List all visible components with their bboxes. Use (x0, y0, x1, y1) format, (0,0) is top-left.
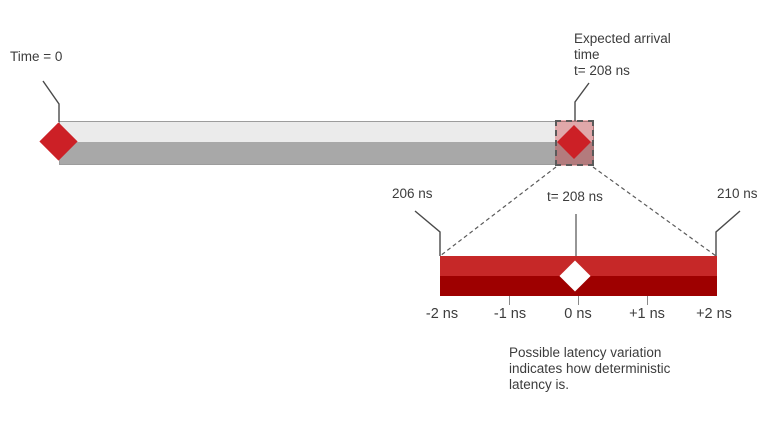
axis-tick-label-0: -2 ns (426, 306, 458, 322)
start-time-label: Time = 0 (10, 49, 62, 65)
expected-arrival-time-value: t= 208 ns (574, 63, 630, 79)
timeline-bar-lower-band (60, 142, 593, 164)
axis-tick-label-3: +1 ns (629, 306, 665, 322)
axis-tick-minus1 (509, 296, 510, 305)
expected-arrival-label-line2: time (574, 47, 600, 63)
axis-tick-plus1 (647, 296, 648, 305)
axis-tick-label-1: -1 ns (494, 306, 526, 322)
caption-line-1: Possible latency variation (509, 345, 661, 362)
zoom-fan-connectors (440, 167, 716, 256)
arrival-leader-line (575, 83, 589, 121)
latency-variation-diagram: Time = 0 Expected arrival time t= 208 ns… (0, 0, 761, 425)
axis-tick-zero (578, 296, 579, 305)
window-center-label: t= 208 ns (547, 189, 603, 205)
caption-line-2: indicates how deterministic (509, 361, 670, 378)
caption-line-3: latency is. (509, 377, 569, 394)
axis-tick-label-4: +2 ns (696, 306, 732, 322)
window-start-leader-line (415, 211, 440, 256)
timeline-bar-upper-band (60, 122, 593, 142)
timeline-bar (59, 121, 594, 165)
start-leader-line (43, 81, 59, 122)
expected-arrival-label-line1: Expected arrival (574, 31, 671, 47)
axis-tick-label-2: 0 ns (564, 306, 591, 322)
window-end-leader-line (716, 211, 740, 256)
window-end-label: 210 ns (717, 186, 758, 202)
window-start-label: 206 ns (392, 186, 433, 202)
